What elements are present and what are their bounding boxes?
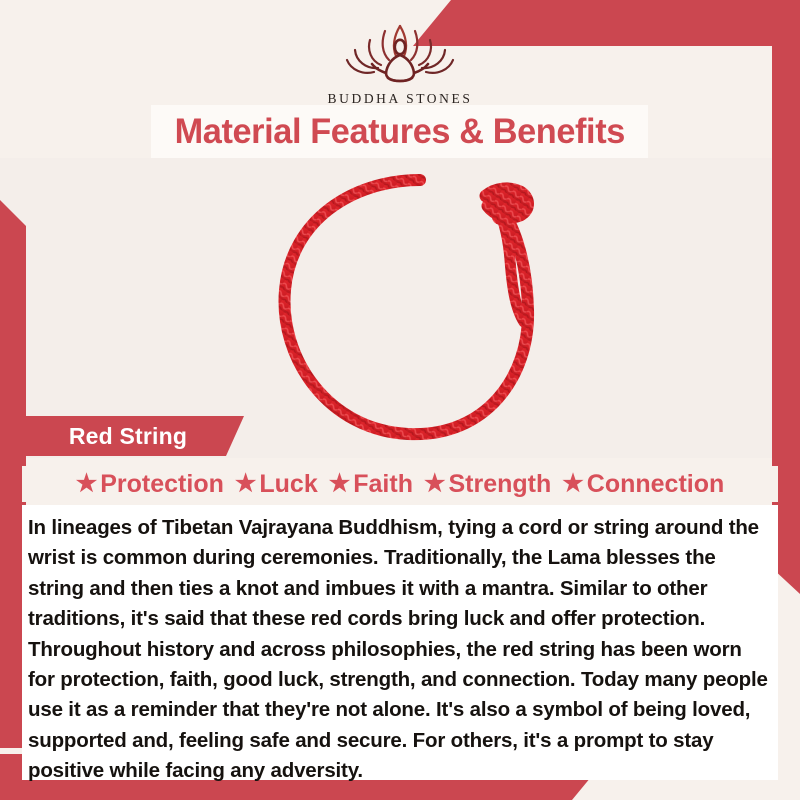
star-icon: ★ [329,472,351,496]
product-tag: Red String [22,416,244,456]
lotus-meditation-icon [325,16,475,88]
benefit-item-faith: ★ Faith [329,470,413,499]
benefit-item-connection: ★ Connection [562,470,724,499]
description-panel: In lineages of Tibetan Vajrayana Buddhis… [22,505,778,780]
benefit-label: Protection [100,470,224,499]
title-banner: Material Features & Benefits [151,105,648,158]
benefit-item-protection: ★ Protection [76,470,224,499]
benefit-item-luck: ★ Luck [235,470,318,499]
page-title: Material Features & Benefits [174,112,624,152]
star-icon: ★ [562,472,584,496]
star-icon: ★ [235,472,257,496]
benefit-label: Faith [353,470,413,499]
product-tag-label: Red String [69,423,197,450]
benefits-row: ★ Protection ★ Luck ★ Faith ★ Strength ★… [22,466,778,502]
star-icon: ★ [76,472,98,496]
star-icon: ★ [424,472,446,496]
benefit-label: Strength [448,470,551,499]
description-text: In lineages of Tibetan Vajrayana Buddhis… [28,513,772,787]
benefit-label: Connection [587,470,725,499]
brand-logo: BUDDHA STONES [0,16,800,107]
red-braided-cord-bracelet-icon [258,162,588,462]
benefit-item-strength: ★ Strength [424,470,551,499]
benefit-label: Luck [259,470,317,499]
